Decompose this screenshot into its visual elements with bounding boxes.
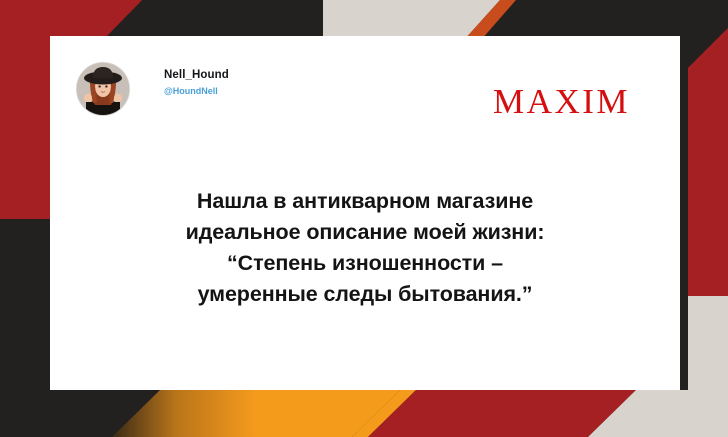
quote-line-3: “Степень изношенности –	[80, 248, 650, 279]
tweet-header: Nell_Hound @HoundNell MAXIM	[76, 62, 656, 124]
quote-line-1: Нашла в антикварном магазине	[80, 186, 650, 217]
avatar[interactable]	[76, 62, 130, 116]
maxim-logo: MAXIM	[493, 82, 630, 122]
quote-card: Nell_Hound @HoundNell MAXIM Нашла в анти…	[50, 36, 680, 390]
profile-identity: Nell_Hound @HoundNell	[164, 68, 229, 98]
profile-handle[interactable]: @HoundNell	[164, 85, 229, 98]
quote-line-2: идеальное описание моей жизни:	[80, 217, 650, 248]
quote-line-4: умеренные следы бытования.”	[80, 279, 650, 310]
display-name: Nell_Hound	[164, 68, 229, 82]
quote-text: Нашла в антикварном магазине идеальное о…	[80, 186, 650, 310]
screenshot-root: Nell_Hound @HoundNell MAXIM Нашла в анти…	[0, 0, 728, 437]
